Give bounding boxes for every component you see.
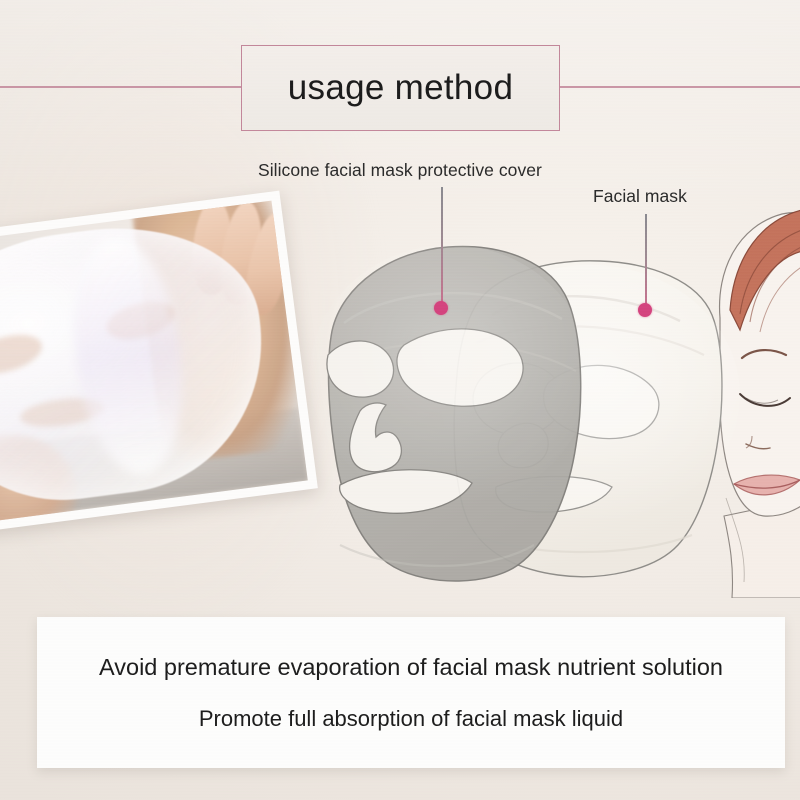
header-rule-right <box>558 86 800 88</box>
benefit-line-1: Avoid premature evaporation of facial ma… <box>37 654 785 681</box>
photo-mask-highlight <box>61 231 195 481</box>
photo-mask-eye-hole <box>0 328 47 381</box>
product-photo-hand-holding-silicone-mask <box>0 201 308 524</box>
benefits-panel: Avoid premature evaporation of facial ma… <box>37 617 785 768</box>
callout-leader-line-facial <box>645 214 647 306</box>
callout-label-silicone-cover: Silicone facial mask protective cover <box>258 160 542 181</box>
product-photo-frame <box>0 191 318 534</box>
header-rule-left <box>0 86 243 88</box>
callout-dot-silicone <box>434 301 448 315</box>
mask-illustration-group <box>300 215 770 595</box>
product-infographic-poster: usage method <box>0 0 800 800</box>
callout-label-facial-mask: Facial mask <box>593 186 687 207</box>
silicone-mask-shape <box>310 245 590 581</box>
page-title: usage method <box>241 45 560 131</box>
callout-dot-facial <box>638 303 652 317</box>
callout-leader-line-silicone <box>441 187 443 305</box>
benefit-line-2: Promote full absorption of facial mask l… <box>37 706 785 732</box>
